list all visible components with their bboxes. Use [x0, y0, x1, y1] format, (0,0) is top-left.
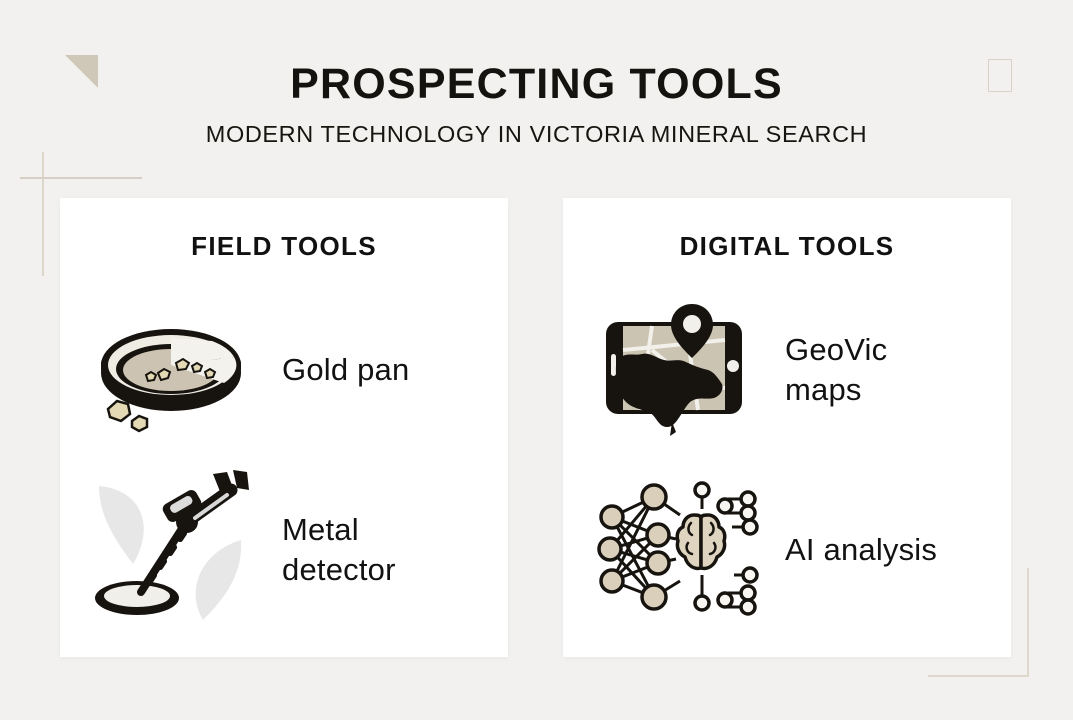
- cross-rule-vertical: [42, 152, 44, 276]
- item-label-gold-pan: Gold pan: [282, 350, 409, 390]
- item-label-line: detector: [282, 550, 396, 590]
- item-label-line: maps: [785, 370, 887, 410]
- list-item[interactable]: Metal detector: [60, 470, 508, 630]
- item-label-metal-detector: Metal detector: [282, 510, 396, 589]
- corner-bracket-vertical: [1027, 568, 1029, 677]
- item-label-line: AI analysis: [785, 530, 937, 570]
- list-item[interactable]: GeoVic maps: [563, 290, 1011, 450]
- card-digital-tools: DIGITAL TOOLS: [563, 198, 1011, 657]
- item-label-ai-analysis: AI analysis: [785, 530, 937, 570]
- header: PROSPECTING TOOLS MODERN TECHNOLOGY IN V…: [0, 62, 1073, 148]
- corner-bracket-horizontal: [928, 675, 1029, 677]
- card-title-field-tools: FIELD TOOLS: [60, 231, 508, 262]
- item-label-line: Metal: [282, 510, 396, 550]
- gold-pan-icon: [60, 290, 282, 450]
- geovic-map-phone-icon: [563, 290, 785, 450]
- cross-rule-horizontal: [20, 177, 142, 179]
- item-label-line: GeoVic: [785, 330, 887, 370]
- item-label-geovic-maps: GeoVic maps: [785, 330, 887, 409]
- card-title-digital-tools: DIGITAL TOOLS: [563, 231, 1011, 262]
- card-field-tools: FIELD TOOLS: [60, 198, 508, 657]
- list-item[interactable]: AI analysis: [563, 470, 1011, 630]
- list-item[interactable]: Gold pan: [60, 290, 508, 450]
- page-title: PROSPECTING TOOLS: [0, 62, 1073, 107]
- item-label-line: Gold pan: [282, 350, 409, 390]
- infographic-canvas: PROSPECTING TOOLS MODERN TECHNOLOGY IN V…: [0, 0, 1073, 720]
- metal-detector-icon: [60, 470, 282, 630]
- ai-neural-brain-icon: [563, 470, 785, 630]
- page-subtitle: MODERN TECHNOLOGY IN VICTORIA MINERAL SE…: [0, 121, 1073, 148]
